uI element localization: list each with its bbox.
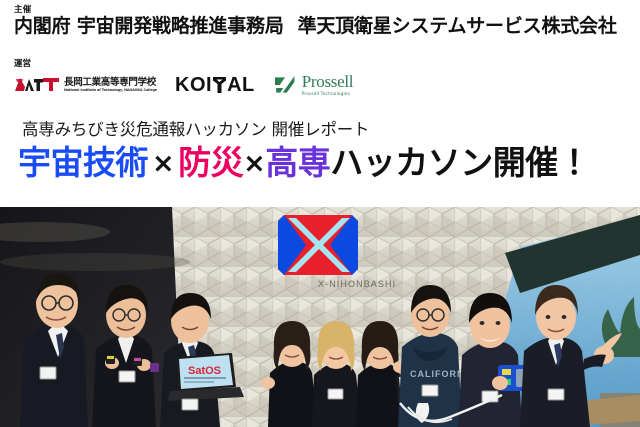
host-label: 主催 [14, 6, 630, 15]
koiyal-logo: KOI AL [175, 70, 255, 100]
svg-text:SatOS: SatOS [188, 365, 221, 377]
host-organizations: 内閣府 宇宙開発戦略推進事務局準天頂衛星システムサービス株式会社 [14, 16, 630, 38]
prossell-subtitle: Prossell Technologies [302, 92, 353, 96]
headline-part-kosen: 高専 [265, 143, 330, 182]
prossell-logo: Prossell Prossell Technologies [273, 70, 353, 100]
svg-text:X-NIHONBASHI: X-NIHONBASHI [318, 279, 396, 289]
koiyal-text-after: AL [227, 75, 255, 95]
header-block: 主催 内閣府 宇宙開発戦略推進事務局準天頂衛星システムサービス株式会社 [14, 6, 630, 38]
report-subtitle: 高専みちびき災危通報ハッカソン 開催レポート [22, 116, 369, 140]
event-report-banner: 主催 内閣府 宇宙開発戦略推進事務局準天頂衛星システムサービス株式会社 運営 長… [0, 0, 640, 427]
headline-separator-1: × [148, 148, 178, 179]
host-name-0: 内閣府 宇宙開発戦略推進事務局 [14, 15, 284, 37]
headline-part-disaster: 防災 [178, 143, 243, 182]
nit-name-en: National Institute of Technology, NAGAOK… [64, 89, 157, 92]
headline-part-hackathon: ハッカソン開催！ [330, 143, 590, 182]
koiyal-text-before: KOI [175, 75, 212, 95]
host-name-1: 準天頂衛星システムサービス株式会社 [298, 15, 617, 37]
prossell-name: Prossell [302, 73, 353, 90]
main-headline: 宇宙技術×防災×高専ハッカソン開催！ [18, 145, 590, 182]
group-photo: X-NIHONBASHI [0, 207, 640, 427]
headline-separator-2: × [243, 148, 265, 179]
koiyal-y-icon [212, 76, 227, 94]
prossell-text-block: Prossell Prossell Technologies [302, 73, 353, 96]
nit-nagaoka-logo: 長岡工業高等専門学校 National Institute of Technol… [14, 70, 157, 100]
nit-text-block: 長岡工業高等専門学校 National Institute of Technol… [64, 78, 157, 92]
nit-mark-icon [14, 76, 60, 94]
operator-label: 運営 [14, 57, 31, 69]
prossell-arrow-icon [273, 75, 297, 95]
operator-logos-row: 長岡工業高等専門学校 National Institute of Technol… [14, 70, 353, 100]
headline-part-space: 宇宙技術 [18, 143, 148, 182]
nit-name-jp: 長岡工業高等専門学校 [64, 78, 157, 88]
